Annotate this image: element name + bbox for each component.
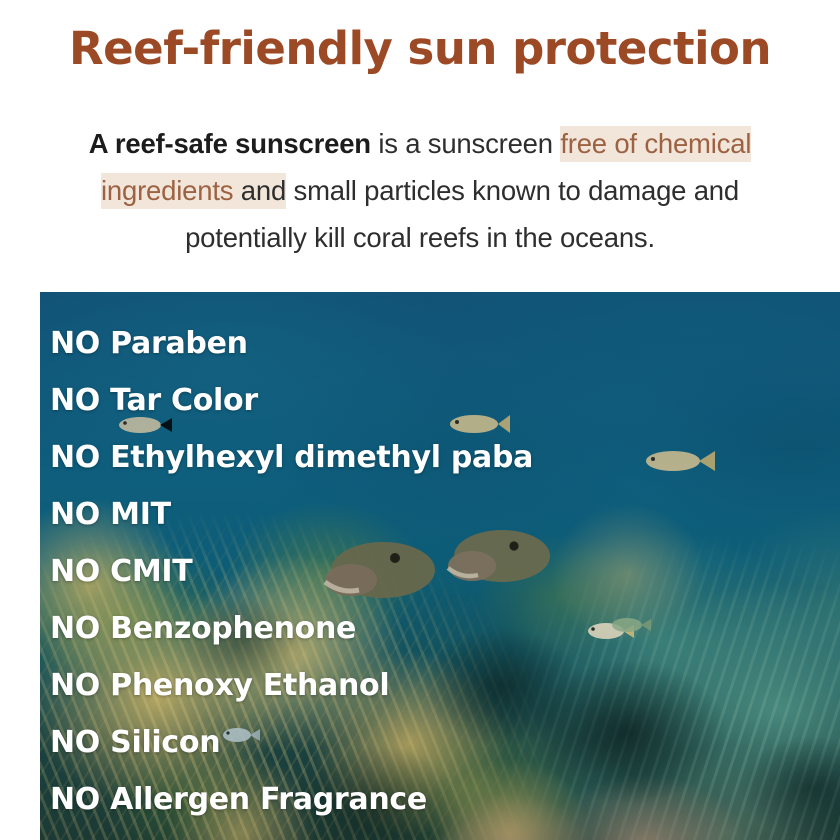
- intro-section: Reef-friendly sun protection A reef-safe…: [0, 0, 840, 276]
- list-item: NO Phenoxy Ethanol: [50, 657, 840, 714]
- list-item: NO Paraben: [50, 315, 840, 372]
- list-item: NO Tar Color: [50, 372, 840, 429]
- list-item: NO Benzophenone: [50, 600, 840, 657]
- excluded-ingredients-list: NO Paraben NO Tar Color NO Ethylhexyl di…: [0, 276, 840, 840]
- list-item: NO Silicon: [50, 714, 840, 771]
- list-item: NO CMIT: [50, 543, 840, 600]
- intro-text-part1: is a sunscreen: [371, 128, 560, 159]
- list-item: NO Allergen Fragrance: [50, 771, 840, 828]
- intro-lead-term: A reef-safe sunscreen: [89, 128, 371, 159]
- intro-highlight-tail: and: [233, 173, 286, 209]
- product-info-page: Reef-friendly sun protection A reef-safe…: [0, 0, 840, 840]
- intro-paragraph: A reef-safe sunscreen is a sunscreen fre…: [46, 120, 794, 261]
- list-item: NO Ethylhexyl dimethyl paba: [50, 429, 840, 486]
- list-item: NO MIT: [50, 486, 840, 543]
- page-title: Reef-friendly sun protection: [0, 22, 840, 75]
